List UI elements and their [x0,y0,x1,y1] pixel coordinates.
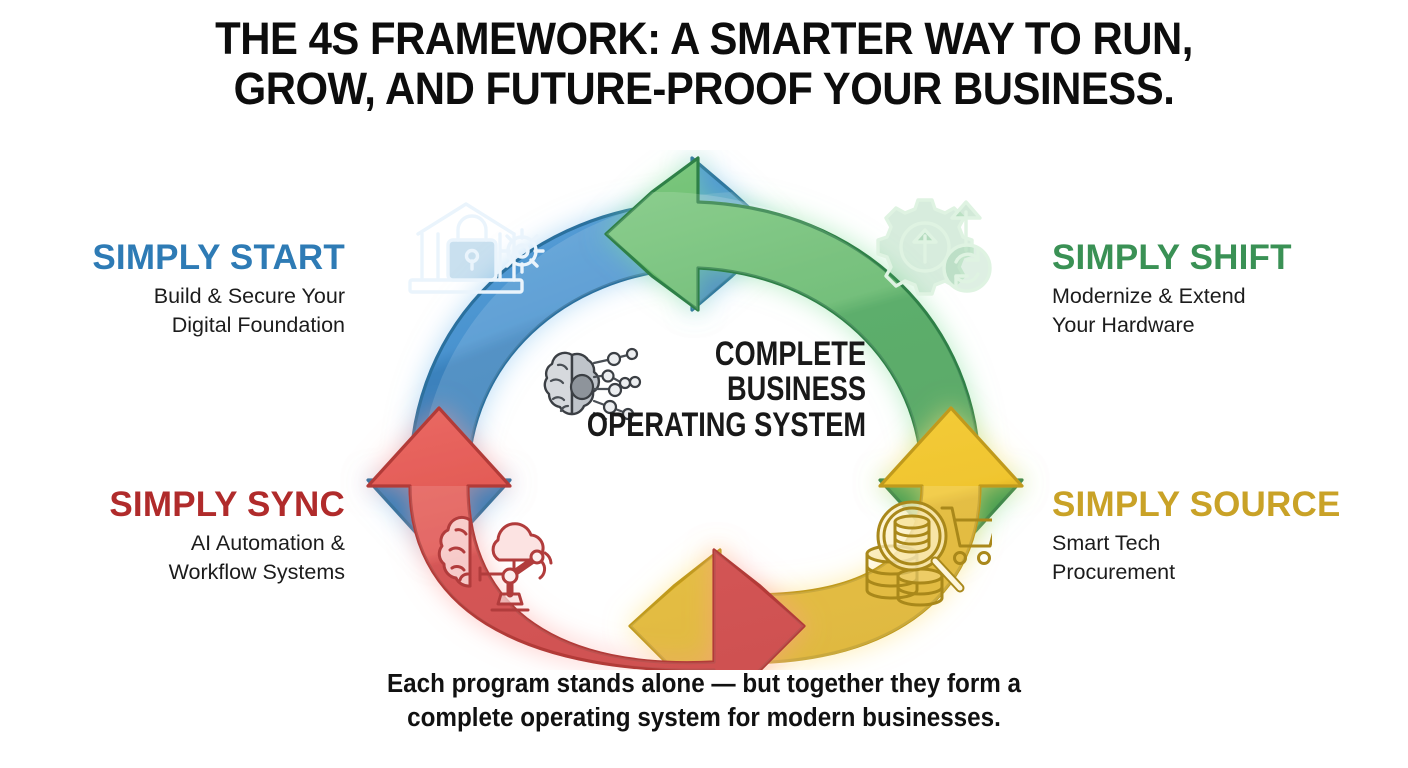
quadrant-heading-start: SIMPLY START [0,240,345,275]
quadrant-subtext-sync: AI Automation & Workflow Systems [0,529,345,586]
coins-magnifier-cart-icon [856,492,992,614]
quadrant-subtext-start: Build & Secure Your Digital Foundation [0,282,345,339]
quadrant-subtext-source: Smart Tech Procurement [1052,529,1408,586]
quadrant-label-start[interactable]: SIMPLY START Build & Secure Your Digital… [0,240,345,339]
center-emblem: COMPLETE BUSINESS OPERATING SYSTEM [536,333,866,473]
quadrant-subtext-start-line2: Digital Foundation [172,313,345,337]
quadrant-label-sync[interactable]: SIMPLY SYNC AI Automation & Workflow Sys… [0,487,345,586]
footer-line-1: Each program stands alone — but together… [387,670,1021,698]
center-line-1: COMPLETE [715,335,866,373]
infographic-canvas: THE 4S FRAMEWORK: A SMARTER WAY TO RUN, … [0,0,1408,768]
title-line-2: GROW, AND FUTURE-PROOF YOUR BUSINESS. [49,64,1358,114]
page-title: THE 4S FRAMEWORK: A SMARTER WAY TO RUN, … [49,14,1358,115]
bank-lock-gear-icon [404,196,554,306]
title-line-1: THE 4S FRAMEWORK: A SMARTER WAY TO RUN, [215,13,1193,64]
center-line-2: BUSINESS [727,370,866,408]
gear-upgrade-refresh-icon [874,186,1004,304]
quadrant-subtext-start-line1: Build & Secure Your [154,284,345,308]
footer-caption: Each program stands alone — but together… [35,668,1373,736]
quadrant-subtext-source-line1: Smart Tech [1052,531,1160,555]
footer-line-2: complete operating system for modern bus… [407,704,1001,732]
center-title: COMPLETE BUSINESS OPERATING SYSTEM [696,337,866,443]
center-line-3: OPERATING SYSTEM [584,408,866,443]
quadrant-subtext-shift-line2: Your Hardware [1052,313,1195,337]
quadrant-subtext-source-line2: Procurement [1052,560,1175,584]
quadrant-subtext-sync-line1: AI Automation & [191,531,345,555]
quadrant-subtext-sync-line2: Workflow Systems [169,560,345,584]
quadrant-label-shift[interactable]: SIMPLY SHIFT Modernize & Extend Your Har… [1052,240,1402,339]
quadrant-heading-sync: SIMPLY SYNC [0,487,345,522]
quadrant-heading-shift: SIMPLY SHIFT [1052,240,1402,275]
quadrant-subtext-shift-line1: Modernize & Extend [1052,284,1246,308]
quadrant-heading-source: SIMPLY SOURCE [1052,487,1408,522]
quadrant-label-source[interactable]: SIMPLY SOURCE Smart Tech Procurement [1052,487,1408,586]
brain-cloud-robotarm-icon [436,506,576,616]
quadrant-subtext-shift: Modernize & Extend Your Hardware [1052,282,1402,339]
